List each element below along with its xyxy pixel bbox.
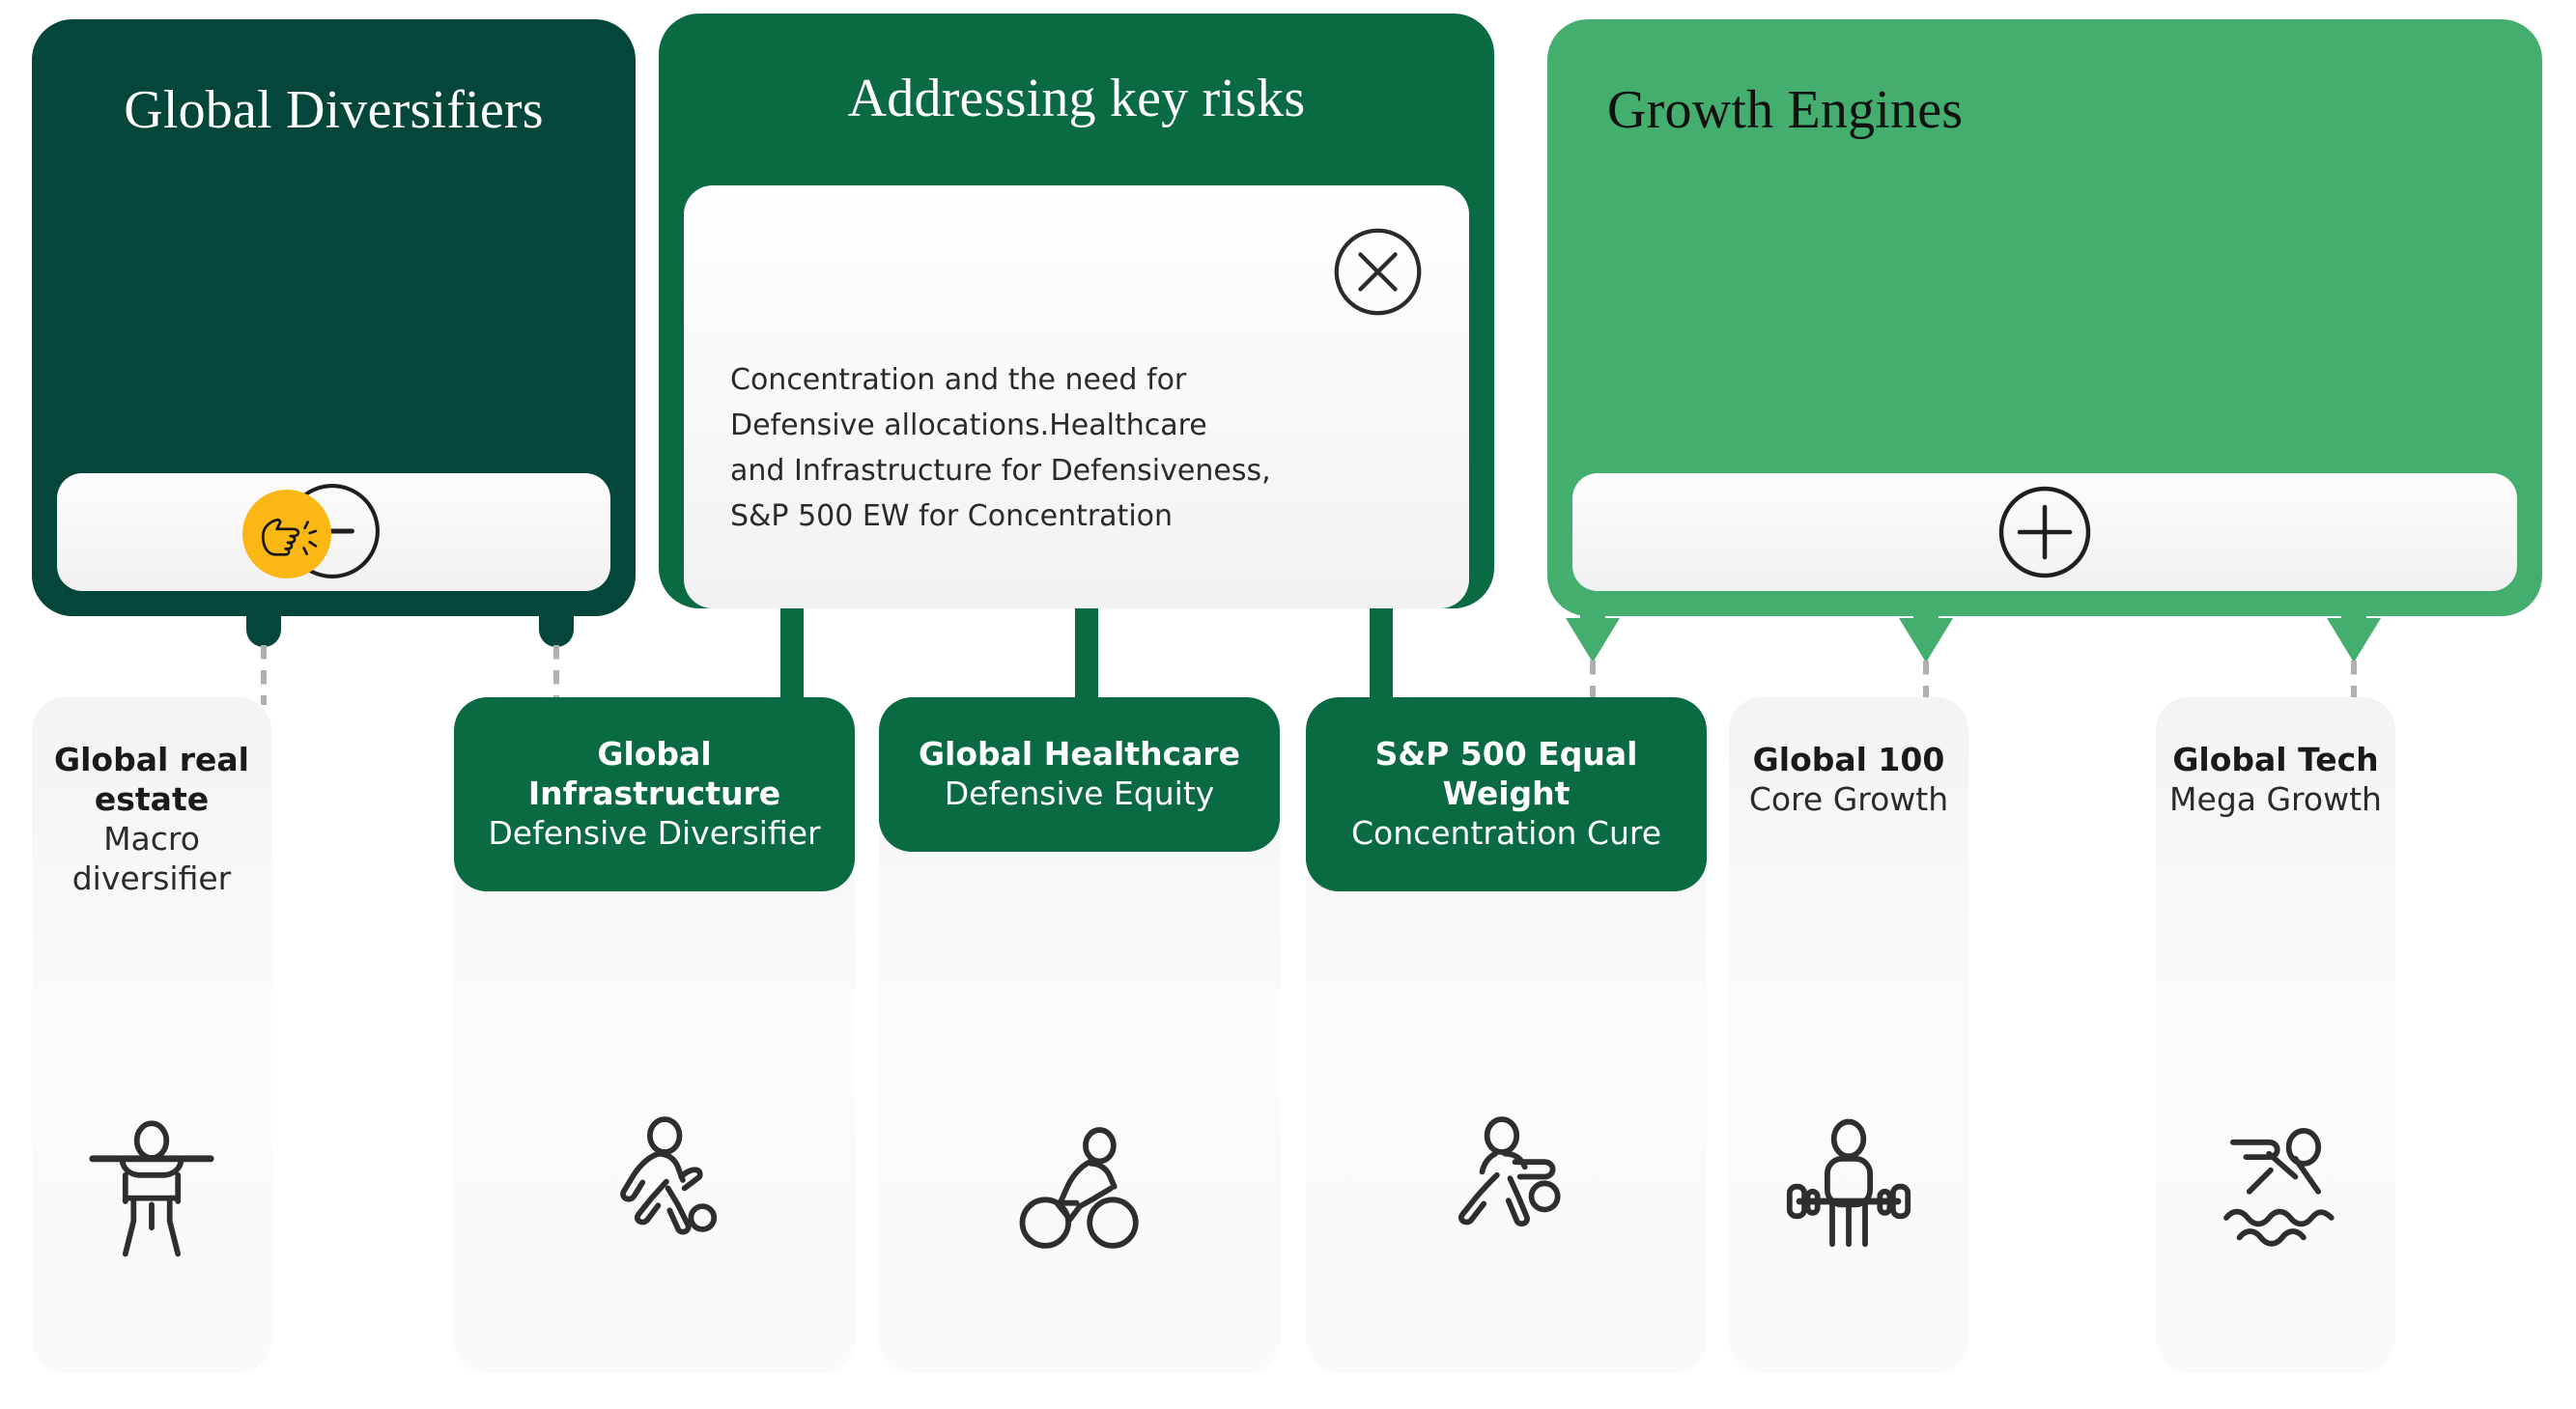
connector-stem-1 <box>780 606 804 707</box>
connector-dash-1 <box>261 645 267 705</box>
diagram-canvas: Global Diversifiers <box>0 0 2576 1409</box>
tile-title: Global Infrastructure <box>466 734 843 813</box>
tile-global-healthcare[interactable]: Global Healthcare Defensive Equity <box>879 697 1280 1373</box>
panel-footer-growth-engines[interactable] <box>1572 473 2517 591</box>
tile-subtitle: Core Growth <box>1742 779 1955 819</box>
tile-title: Global 100 <box>1742 740 1955 779</box>
panel-title-growth-engines: Growth Engines <box>1607 79 1963 141</box>
risk-description-text: Concentration and the need for Defensive… <box>730 357 1427 539</box>
tile-subtitle: Concentration Cure <box>1317 813 1695 853</box>
bowler-thrower-icon <box>1306 1103 1707 1267</box>
panel-footer-global-diversifiers[interactable] <box>57 473 610 591</box>
tile-subtitle: Defensive Diversifier <box>466 813 843 853</box>
barbell-lifter-icon <box>1729 1103 1968 1267</box>
close-circle-icon[interactable] <box>1332 226 1424 318</box>
tile-head-global-100: Global 100 Core Growth <box>1729 697 1968 863</box>
tile-title: Global Healthcare <box>891 734 1268 774</box>
swimmer-icon <box>2156 1103 2395 1267</box>
connector-nub-1 <box>246 614 281 647</box>
tile-title: Global real estate <box>45 740 258 819</box>
pointing-hand-icon[interactable] <box>242 490 331 578</box>
panel-global-diversifiers[interactable]: Global Diversifiers <box>32 19 636 616</box>
tile-head-global-real-estate: Global real estate Macro diversifier <box>32 697 271 943</box>
connector-nub-2 <box>539 614 574 647</box>
connector-arrow-2 <box>1899 618 1953 662</box>
tile-head-global-infrastructure: Global Infrastructure Defensive Diversif… <box>454 697 855 891</box>
connector-arrow-3 <box>2327 618 2381 662</box>
tile-global-tech[interactable]: Global Tech Mega Growth <box>2156 697 2395 1373</box>
risk-detail-card: Concentration and the need for Defensive… <box>684 185 1469 608</box>
tile-subtitle: Macro diversifier <box>45 819 258 898</box>
tile-head-global-tech: Global Tech Mega Growth <box>2156 697 2395 863</box>
weightlifter-overhead-icon <box>32 1103 271 1267</box>
tile-subtitle: Defensive Equity <box>891 774 1268 813</box>
cursor-pointer-minus-group[interactable] <box>242 482 426 583</box>
connector-stem-3 <box>1370 606 1393 707</box>
plus-circle-icon[interactable] <box>1996 484 2093 580</box>
tile-head-sp500-equal-weight: S&P 500 Equal Weight Concentration Cure <box>1306 697 1707 891</box>
connector-arrow-1 <box>1566 618 1620 662</box>
soccer-runner-icon <box>454 1103 855 1267</box>
tile-global-real-estate[interactable]: Global real estate Macro diversifier <box>32 697 271 1373</box>
panel-addressing-key-risks[interactable]: Addressing key risks Concentration and t… <box>659 14 1494 608</box>
tile-subtitle: Mega Growth <box>2169 779 2382 819</box>
tile-sp500-equal-weight[interactable]: S&P 500 Equal Weight Concentration Cure <box>1306 697 1707 1373</box>
panel-growth-engines[interactable]: Growth Engines <box>1547 19 2542 616</box>
tile-title: S&P 500 Equal Weight <box>1317 734 1695 813</box>
panel-title-addressing-key-risks: Addressing key risks <box>659 68 1494 129</box>
cyclist-icon <box>879 1103 1280 1267</box>
connector-stem-2 <box>1075 606 1098 707</box>
tile-global-100[interactable]: Global 100 Core Growth <box>1729 697 1968 1373</box>
tile-head-global-healthcare: Global Healthcare Defensive Equity <box>879 697 1280 852</box>
panel-title-global-diversifiers: Global Diversifiers <box>32 79 636 141</box>
tile-global-infrastructure[interactable]: Global Infrastructure Defensive Diversif… <box>454 697 855 1373</box>
tile-title: Global Tech <box>2169 740 2382 779</box>
connector-dash-2 <box>553 645 559 705</box>
